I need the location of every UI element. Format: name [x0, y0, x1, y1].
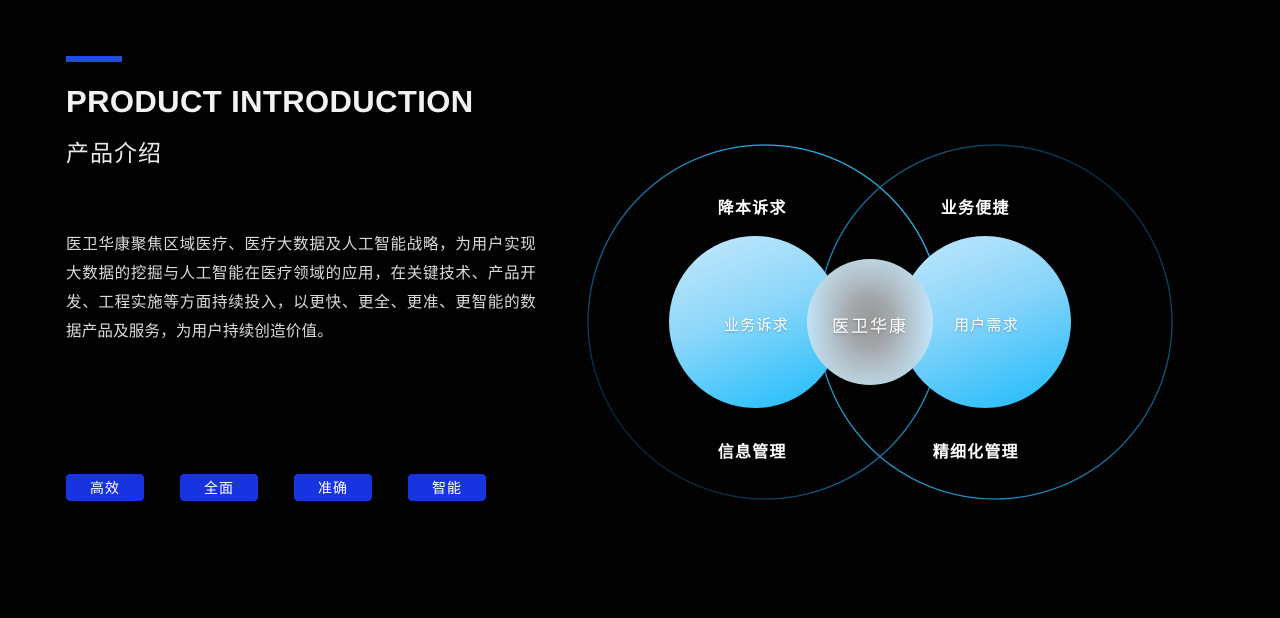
intro-paragraph: 医卫华康聚焦区域医疗、医疗大数据及人工智能战略，为用户实现大数据的挖掘与人工智能… [66, 230, 536, 346]
circle-label-left: 业务诉求 [724, 314, 789, 335]
outer-label-top-left: 降本诉求 [718, 194, 787, 218]
tag-zhineng[interactable]: 智能 [408, 474, 486, 501]
venn-diagram-svg [560, 100, 1260, 550]
intro-panel: PRODUCT INTRODUCTION 产品介绍 医卫华康聚焦区域医疗、医疗大… [66, 56, 566, 346]
tag-zhunque[interactable]: 准确 [294, 474, 372, 501]
outer-label-bottom-right: 精细化管理 [933, 438, 1019, 462]
tag-gaoxiao[interactable]: 高效 [66, 474, 144, 501]
accent-bar [66, 56, 122, 62]
tag-quanmian[interactable]: 全面 [180, 474, 258, 501]
feature-tag-row: 高效 全面 准确 智能 [66, 474, 486, 501]
circle-label-right: 用户需求 [954, 314, 1019, 335]
outer-label-top-right: 业务便捷 [941, 194, 1010, 218]
venn-diagram: 降本诉求 业务便捷 信息管理 精细化管理 业务诉求 医卫华康 用户需求 [560, 100, 1260, 550]
page-title-chinese: 产品介绍 [66, 134, 566, 168]
circle-label-center: 医卫华康 [832, 312, 908, 337]
page-title-english: PRODUCT INTRODUCTION [66, 84, 566, 120]
outer-label-bottom-left: 信息管理 [718, 438, 787, 462]
